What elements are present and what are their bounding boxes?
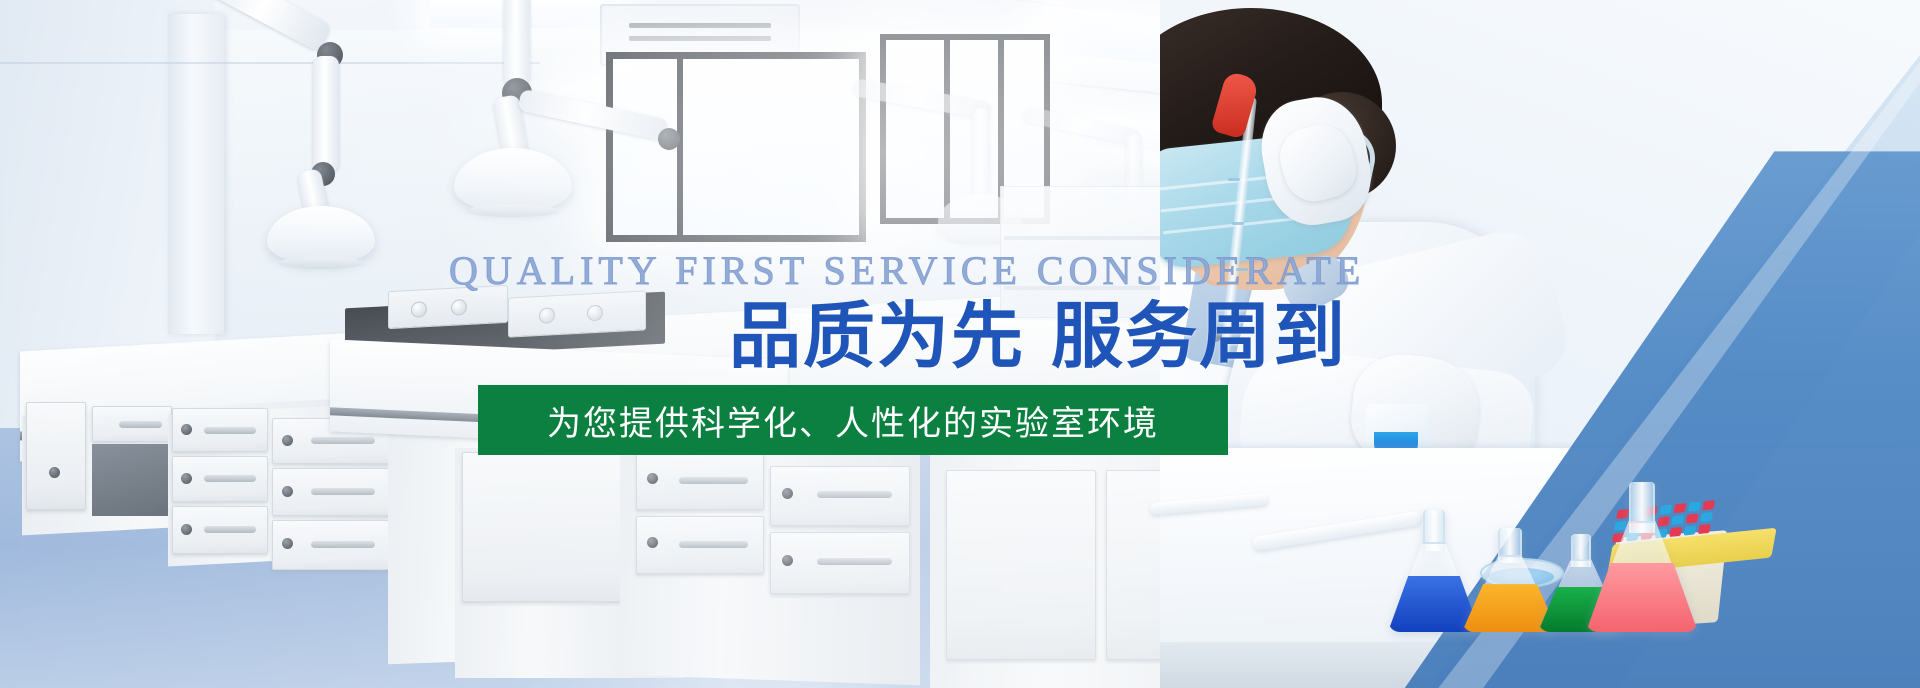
headline: 品质为先服务周到: [729, 300, 1347, 376]
subtitle-bar: 为您提供科学化、人性化的实验室环境: [478, 385, 1228, 455]
hero-banner: QUALITY FIRST SERVICE CONSIDERATE 品质为先服务…: [0, 0, 1920, 688]
text-overlay: QUALITY FIRST SERVICE CONSIDERATE 品质为先服务…: [0, 0, 1920, 688]
eyebrow-tagline: QUALITY FIRST SERVICE CONSIDERATE: [449, 251, 1365, 291]
subtitle-text: 为您提供科学化、人性化的实验室环境: [547, 396, 1159, 445]
headline-part-2: 服务周到: [1051, 297, 1347, 377]
headline-part-1: 品质为先: [729, 297, 1025, 377]
